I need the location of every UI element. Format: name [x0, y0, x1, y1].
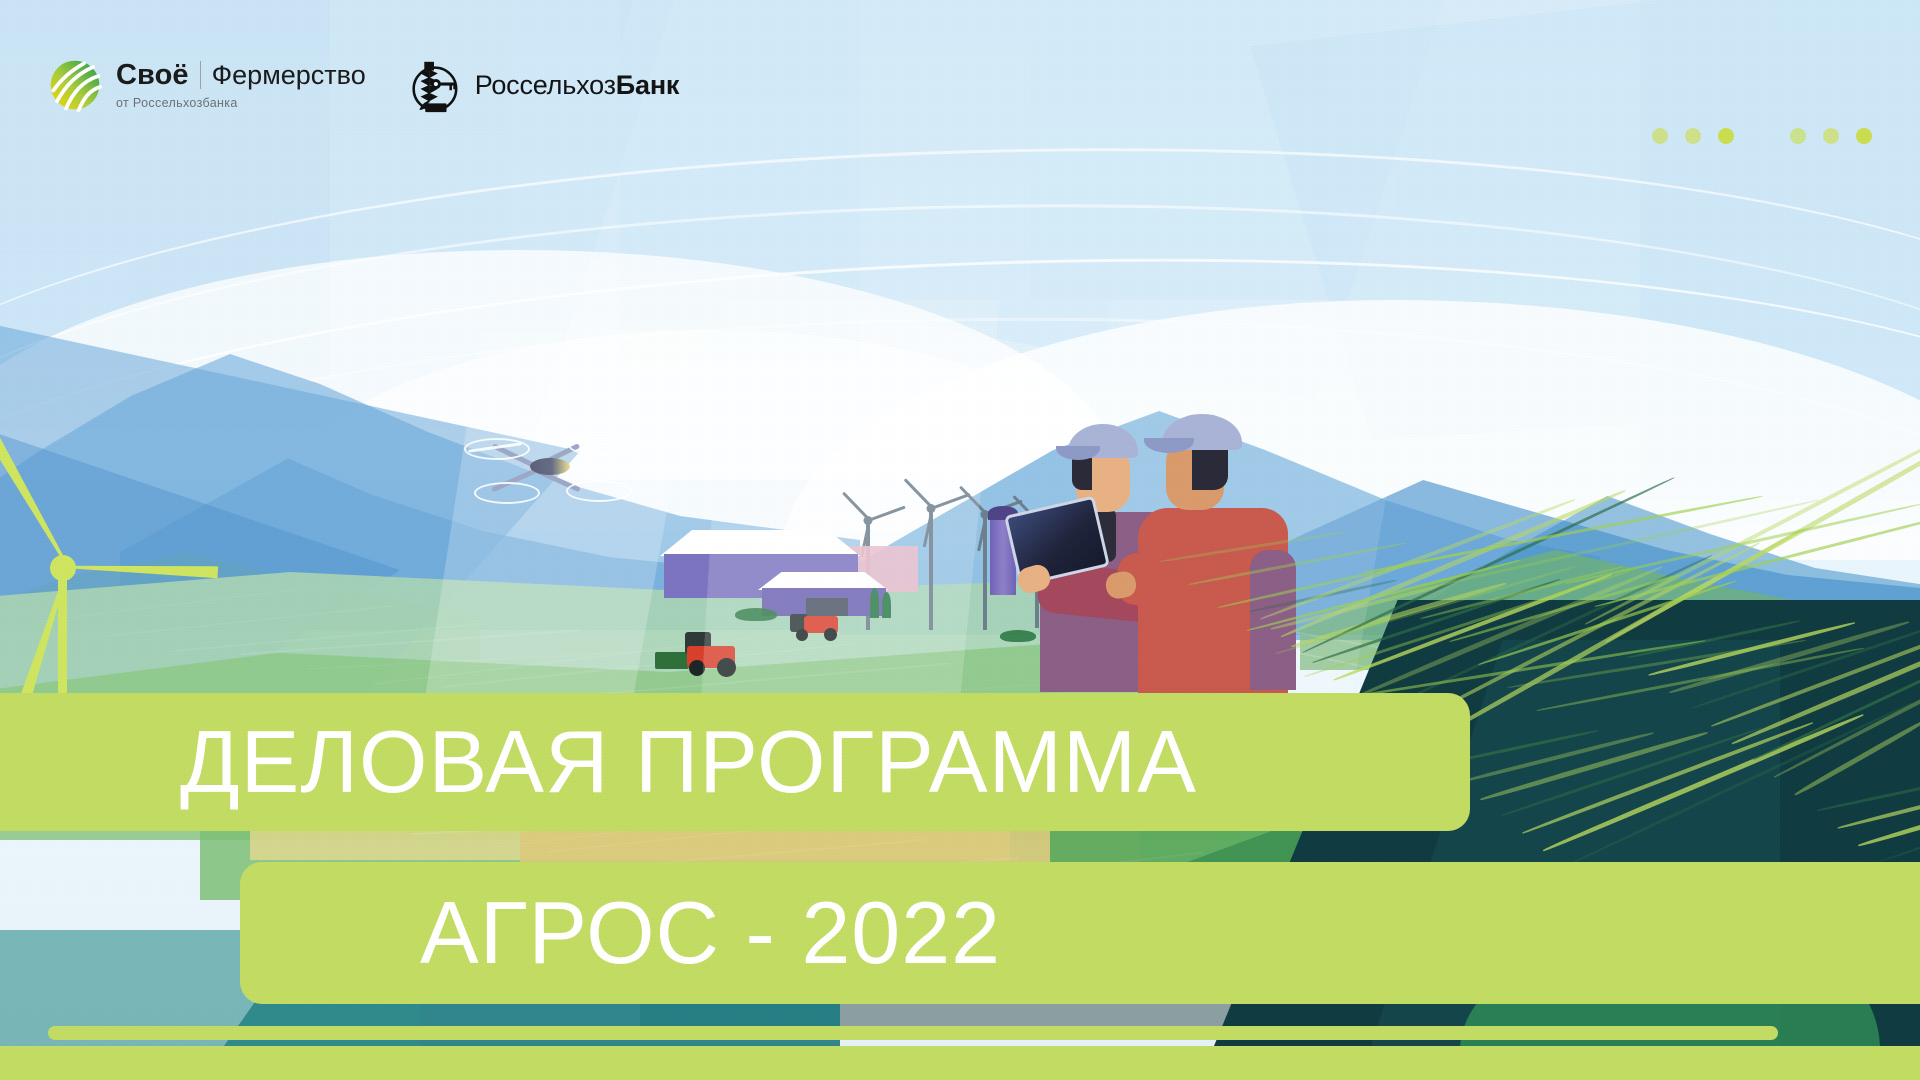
bottom-green-strip — [0, 1046, 1920, 1080]
svoe-fermerstvo-logo[interactable]: Своё Фермерство от Россельхозбанка — [48, 58, 366, 112]
svoe-divider — [200, 61, 201, 89]
title-line-2: АГРОС - 2022 — [420, 889, 1001, 977]
decorative-dot — [1652, 128, 1668, 144]
tractor-wheel — [689, 660, 705, 676]
svoe-word-text: Фермерство — [212, 62, 366, 89]
svoe-wordmark: Своё Фермерство от Россельхозбанка — [116, 61, 366, 110]
svoe-subtitle: от Россельхозбанка — [116, 97, 366, 110]
banner-business-program: ДЕЛОВАЯ ПРОГРАММА — [0, 693, 1470, 831]
decorative-dot — [1823, 128, 1839, 144]
logo-bar: Своё Фермерство от Россельхозбанка — [48, 50, 679, 120]
decorative-dot — [1856, 128, 1872, 144]
svoe-brand-text: Своё — [116, 61, 189, 90]
rshb-name-part2: Банк — [616, 70, 679, 100]
rshb-wordmark: РоссельхозБанк — [475, 70, 680, 101]
light-veil — [700, 300, 1000, 720]
turbine-blade — [68, 561, 218, 578]
title-line-1: ДЕЛОВАЯ ПРОГРАММА — [180, 718, 1197, 806]
decorative-dot — [1790, 128, 1806, 144]
svoe-fermerstvo-leaf-icon — [48, 58, 102, 112]
poster-canvas: Своё Фермерство от Россельхозбанка — [0, 0, 1920, 1080]
rshb-logo[interactable]: РоссельхозБанк — [404, 56, 680, 114]
banner-agros-2022: АГРОС - 2022 — [240, 862, 1920, 1004]
tractor-attachment — [655, 652, 689, 669]
farmers-with-tablet — [1020, 400, 1320, 690]
turbine-hub — [50, 555, 76, 581]
rshb-name-part1: Россельхоз — [475, 70, 616, 100]
rshb-wheat-key-icon — [404, 56, 462, 114]
decorative-dot — [1718, 128, 1734, 144]
decorative-dots — [1652, 128, 1872, 144]
accent-bar — [48, 1026, 1778, 1040]
decorative-dot — [1685, 128, 1701, 144]
